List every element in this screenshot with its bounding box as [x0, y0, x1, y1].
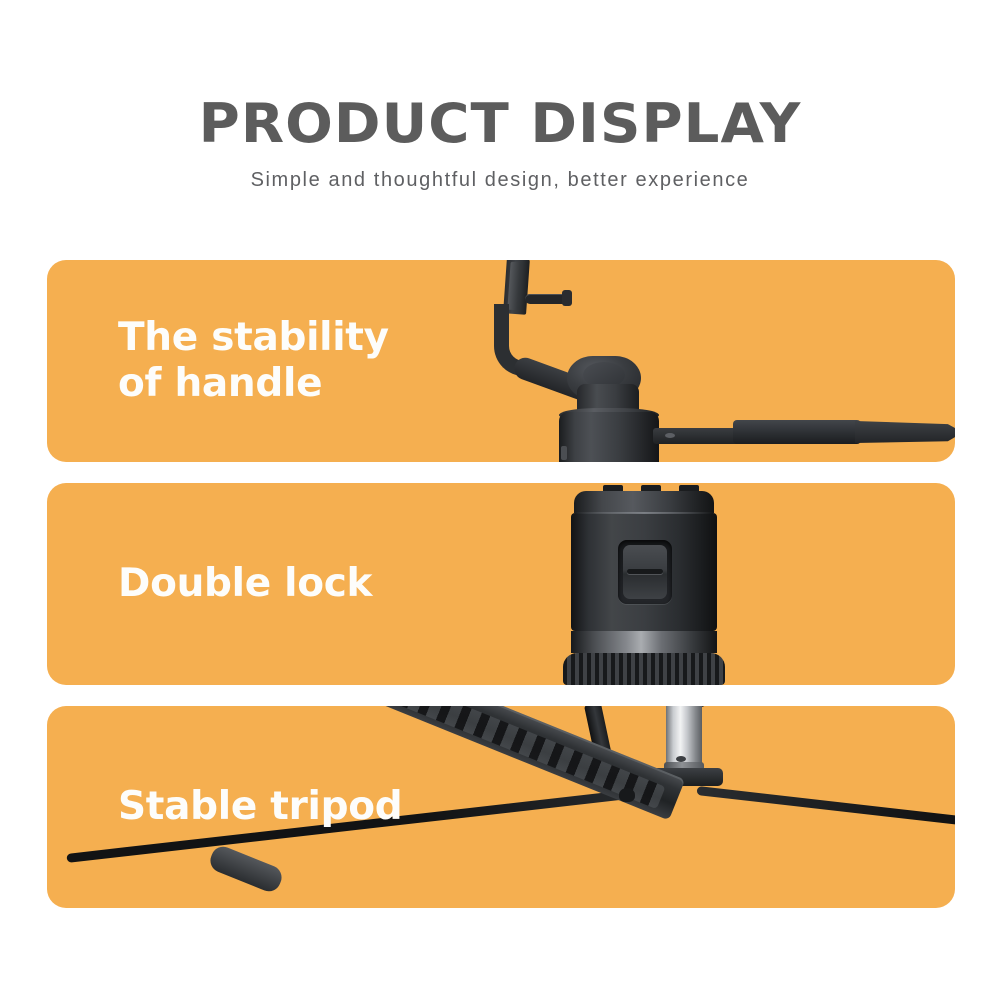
slide-lock-groove — [627, 569, 663, 574]
gimbal-thumbscrew-tip — [562, 290, 572, 306]
tripod-splay-leg-right — [696, 786, 955, 863]
handle-body-seam — [574, 512, 714, 514]
tripod-leg-hinge — [619, 788, 635, 802]
handle-top-lip — [574, 491, 714, 513]
feature-panel-stability-of-handle[interactable]: The stability of handle — [47, 260, 955, 462]
feature-label-line: Double lock — [118, 561, 372, 607]
handle-body — [559, 412, 659, 462]
feature-label-stable-tripod: Stable tripod — [118, 706, 402, 908]
feature-label-line: The stability — [118, 315, 389, 361]
page-header: PRODUCT DISPLAY Simple and thoughtful de… — [0, 95, 1000, 193]
feature-label-line: Stable tripod — [118, 784, 402, 830]
feature-panel-list: The stability of handle Double lock — [47, 260, 955, 929]
tripod-leg-arm-segment-2 — [733, 420, 861, 444]
tripod-leg-arm-tip — [855, 421, 955, 443]
feature-panel-stable-tripod[interactable]: Stable tripod — [47, 706, 955, 908]
page-title: PRODUCT DISPLAY — [0, 95, 1000, 153]
feature-label-stability-of-handle: The stability of handle — [118, 260, 389, 462]
tripod-leg-arm-eyelet — [665, 433, 675, 438]
handle-side-button — [561, 446, 567, 460]
handle-chrome-ring — [571, 631, 717, 653]
tripod-back-leg-right — [697, 706, 822, 708]
feature-label-line: of handle — [118, 361, 389, 407]
handle-knurled-twist-lock — [563, 653, 725, 685]
feature-panel-double-lock[interactable]: Double lock — [47, 483, 955, 685]
product-display-page: PRODUCT DISPLAY Simple and thoughtful de… — [0, 0, 1000, 1000]
feature-label-double-lock: Double lock — [118, 483, 372, 685]
page-subtitle: Simple and thoughtful design, better exp… — [0, 167, 1000, 193]
